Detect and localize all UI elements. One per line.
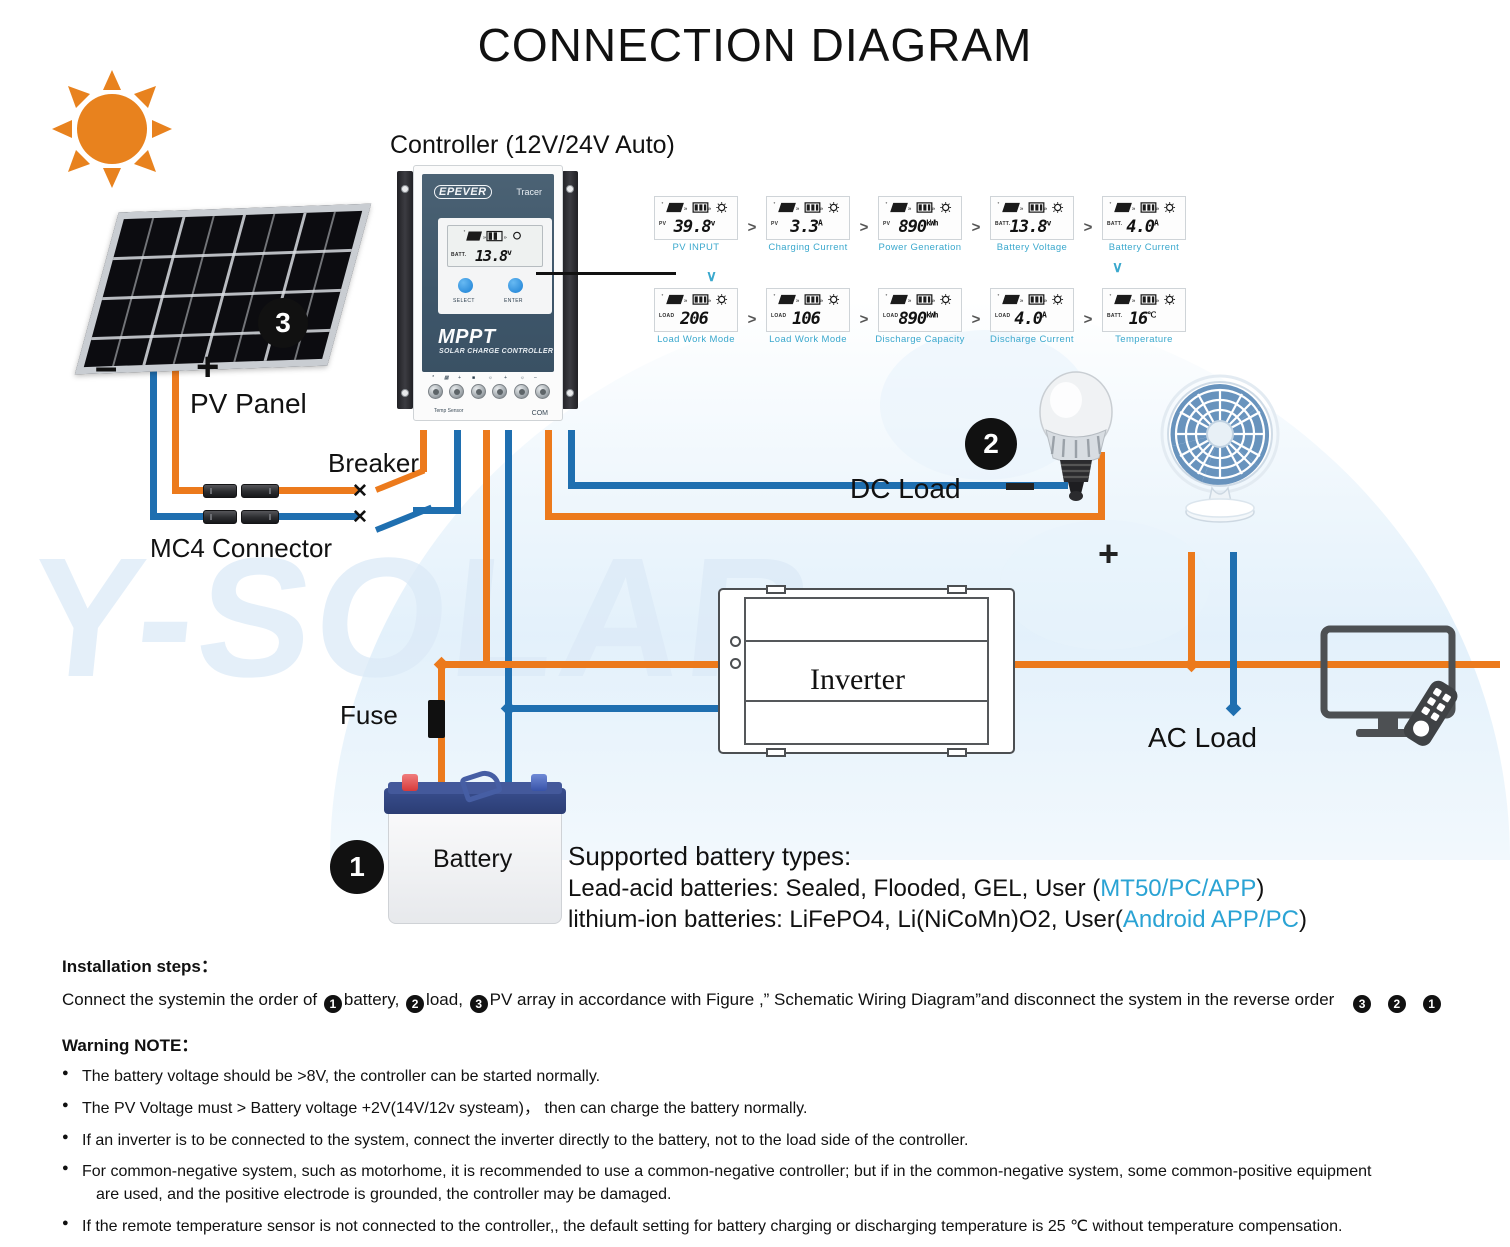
mc4-connector-label: MC4 Connector xyxy=(150,533,332,564)
terminal-pv-positive[interactable] xyxy=(471,384,486,399)
lcd-screen-cell: * » » LOAD106Load Work Mode xyxy=(762,288,854,350)
lcd-screen-cell: * » » PV890kWhPower Generation xyxy=(874,196,966,258)
wire-breaker-to-controller-negative xyxy=(454,430,461,513)
svg-text:»: » xyxy=(820,206,824,213)
mc4-connector-female-negative xyxy=(241,510,279,524)
warning-item-continuation: are used, and the positive electrode is … xyxy=(82,1184,1462,1207)
controller-lcd-screen: * » » BATT. 13.8v xyxy=(447,225,543,267)
lcd-flow-arrow: > xyxy=(742,219,762,236)
lcd-caption: Temperature xyxy=(1098,334,1190,345)
controller-lcd-value: 13.8v xyxy=(448,247,538,265)
enter-button-label: ENTER xyxy=(504,298,523,304)
svg-text:»: » xyxy=(708,298,712,305)
svg-text:»: » xyxy=(1020,298,1024,305)
lcd-caption: Charging Current xyxy=(762,242,854,253)
terminal-pv-negative[interactable] xyxy=(449,384,464,399)
svg-text:»: » xyxy=(1156,206,1160,213)
lcd-unit: kWh xyxy=(926,310,937,319)
wire-ac-load-negative-drop xyxy=(1230,552,1237,708)
lcd-number: 16 xyxy=(1129,309,1147,329)
controller-tech-label: MPPT xyxy=(438,326,496,349)
controller-terminal-row xyxy=(428,384,550,406)
lcd-screen: * » » BATT.16℃ xyxy=(1102,288,1186,332)
inline-badge-1: 1 xyxy=(324,995,342,1013)
wire-breaker-to-controller-positive xyxy=(420,430,427,472)
diagram-canvas: Y-SOLAR CONNECTION DIAGRAM xyxy=(0,0,1510,1235)
inverter-mount-tab-tl xyxy=(766,585,786,594)
battery-types-line2-text: lithium-ion batteries: LiFePO4, Li(NiCoM… xyxy=(568,906,1123,933)
tv-monitor-icon xyxy=(1320,625,1468,749)
svg-text:*: * xyxy=(886,293,888,298)
fuse-graphic xyxy=(428,700,445,738)
lcd-unit: A xyxy=(818,218,822,227)
battery-types-line1-accent: MT50/PC/APP xyxy=(1100,875,1256,902)
lcd-value: 13.8v xyxy=(991,217,1069,237)
svg-text:»: » xyxy=(1132,206,1136,213)
lcd-caption: Battery Current xyxy=(1098,242,1190,253)
inline-badge-2: 2 xyxy=(406,995,424,1013)
lcd-screen-cell: * » » BATT.16℃Temperature xyxy=(1098,288,1190,350)
junction-node-positive-left xyxy=(434,657,450,673)
warning-item-text: The PV Voltage must > Battery voltage +2… xyxy=(82,1100,807,1117)
svg-text:*: * xyxy=(1110,293,1112,298)
controller-lcd-number: 13.8 xyxy=(475,247,507,265)
pv-negative-label: – xyxy=(95,345,117,390)
lcd-screen-cell: * » » BATT.13.8vBattery Voltage xyxy=(986,196,1078,258)
installation-text-4: PV array in accordance with Figure ,” Sc… xyxy=(490,990,1335,1009)
mc4-connector-male-positive xyxy=(203,484,237,498)
battery-label: Battery xyxy=(433,845,512,874)
pv-panel-graphic xyxy=(75,204,371,375)
ac-load-label: AC Load xyxy=(1148,722,1257,754)
warning-item-text: For common-negative system, such as moto… xyxy=(82,1163,1371,1180)
sun-icon xyxy=(46,68,178,190)
wire-battery-positive-down xyxy=(483,430,490,665)
inverter-led-1 xyxy=(730,636,741,647)
light-bulb-icon xyxy=(1032,368,1120,503)
lcd-caption: PV INPUT xyxy=(650,242,742,253)
inverter-divider-top xyxy=(744,640,989,642)
breaker-open-mark-negative: ✕ xyxy=(352,506,368,529)
dc-load-label: DC Load xyxy=(850,473,961,505)
terminal-temp-sensor[interactable] xyxy=(428,384,443,399)
wire-breaker-join-negative xyxy=(413,507,461,514)
lcd-screen: * » » LOAD890kWh xyxy=(878,288,962,332)
lcd-number: 4.0 xyxy=(1126,217,1154,237)
inverter-divider-bottom xyxy=(744,700,989,702)
lcd-caption: Load Work Mode xyxy=(762,334,854,345)
wire-mc4-to-breaker-positive xyxy=(276,487,358,494)
dc-load-negative-symbol xyxy=(1006,483,1034,490)
reverse-order-badge-2: 2 xyxy=(1388,995,1406,1013)
lcd-flow-arrow: > xyxy=(966,219,986,236)
wire-dc-load-positive-down xyxy=(545,430,552,520)
controller-faceplate: EPEVER Tracer * » xyxy=(422,174,554,372)
warning-heading: Warning NOTE： xyxy=(62,1031,1462,1056)
lcd-screen: * » » BATT.13.8v xyxy=(990,196,1074,240)
com-port-label: COM xyxy=(532,410,548,417)
pv-cell-grid xyxy=(84,211,362,367)
battery-types-line-2: lithium-ion batteries: LiFePO4, Li(NiCoM… xyxy=(568,906,1307,934)
warning-item: If an inverter is to be connected to the… xyxy=(62,1130,1462,1153)
lcd-screen-cell: * » » LOAD206Load Work Mode xyxy=(650,288,742,350)
controller-body: EPEVER Tracer * » xyxy=(413,165,563,421)
epever-logo-text: EPEVER xyxy=(434,185,492,199)
lcd-unit: v xyxy=(1047,218,1051,227)
lcd-unit: v xyxy=(711,218,715,227)
warning-item-text: If an inverter is to be connected to the… xyxy=(82,1132,968,1149)
lcd-unit: kWh xyxy=(926,218,937,227)
svg-text:»: » xyxy=(504,235,507,241)
battery-types-line2-close: ) xyxy=(1299,906,1307,933)
installation-text-1: Connect the systemin the order of xyxy=(62,990,317,1009)
lcd-number: 890 xyxy=(898,217,926,237)
lcd-screen: * » » PV3.3A xyxy=(766,196,850,240)
breaker-label: Breaker xyxy=(328,448,419,479)
wire-battery-negative-bus xyxy=(505,705,730,712)
lcd-value: 4.0A xyxy=(991,309,1069,329)
lcd-value: 4.0A xyxy=(1103,217,1181,237)
battery-types-block: Supported battery types: Lead-acid batte… xyxy=(568,841,1307,934)
lcd-flow-arrow: > xyxy=(1078,219,1098,236)
lcd-flow-arrow: > xyxy=(966,311,986,328)
terminal-load-positive[interactable] xyxy=(535,384,550,399)
battery-types-line2-accent: Android APP/PC xyxy=(1123,906,1299,933)
charge-controller: EPEVER Tracer * » xyxy=(395,165,580,427)
warning-item: The battery voltage should be >8V, the c… xyxy=(62,1066,1462,1089)
lcd-screen: * » » PV39.8v xyxy=(654,196,738,240)
battery-types-line1-text: Lead-acid batteries: Sealed, Flooded, GE… xyxy=(568,875,1100,902)
temp-sensor-label: Temp Sensor xyxy=(434,408,463,414)
battery-types-line1-close: ) xyxy=(1256,875,1264,902)
lcd-row-top: * » » PV39.8vPV INPUT> * » » PV3.3ACharg… xyxy=(650,196,1210,258)
junction-node-negative-ac xyxy=(1226,701,1242,717)
lcd-value: 890kWh xyxy=(879,309,957,329)
lcd-screen-cell: * » » PV3.3ACharging Current xyxy=(762,196,854,258)
wire-dc-load-negative-run xyxy=(568,482,1068,489)
inverter-led-2 xyxy=(730,658,741,669)
installation-text-3: load, xyxy=(426,990,463,1009)
lcd-screen: * » » PV890kWh xyxy=(878,196,962,240)
svg-text:*: * xyxy=(464,229,466,234)
svg-text:»: » xyxy=(820,298,824,305)
battery-types-line-1: Lead-acid batteries: Sealed, Flooded, GE… xyxy=(568,875,1307,903)
controller-mount-rail-left xyxy=(397,171,413,409)
watermark: Y-SOLAR xyxy=(20,520,824,716)
lcd-screen: * » » LOAD206 xyxy=(654,288,738,332)
lcd-number: 4.0 xyxy=(1014,309,1042,329)
lcd-flow-down-arrow-right: ∨ xyxy=(1112,258,1123,276)
controller-lcd-bezel: * » » BATT. 13.8v xyxy=(438,218,552,314)
lcd-unit: A xyxy=(1042,310,1046,319)
select-button[interactable] xyxy=(458,278,473,293)
lcd-flow-arrow: > xyxy=(854,311,874,328)
lcd-caption: Discharge Capacity xyxy=(874,334,966,345)
svg-text:*: * xyxy=(998,293,1000,298)
svg-text:»: » xyxy=(908,298,912,305)
installation-heading: Installation steps： xyxy=(62,952,1462,977)
lcd-value: 3.3A xyxy=(767,217,845,237)
wire-pv-negative-horizontal xyxy=(150,513,210,520)
fuse-label: Fuse xyxy=(340,700,398,731)
svg-text:»: » xyxy=(796,206,800,213)
lcd-caption: Discharge Current xyxy=(986,334,1078,345)
step-badge-3: 3 xyxy=(258,298,308,348)
svg-text:*: * xyxy=(774,201,776,206)
lcd-caption: Battery Voltage xyxy=(986,242,1078,253)
lcd-caption: Power Generation xyxy=(874,242,966,253)
dc-load-positive-symbol: + xyxy=(1098,533,1119,575)
controller-model-label: Tracer xyxy=(516,187,542,197)
electric-fan-icon xyxy=(1148,372,1298,537)
controller-terminal-icons: *▦+ ■☼+ ☼– xyxy=(430,375,548,383)
lcd-value: 16℃ xyxy=(1103,309,1181,329)
wire-dc-load-negative-down xyxy=(568,430,575,488)
wire-battery-negative-down xyxy=(505,430,512,805)
inverter-mount-tab-bl xyxy=(766,748,786,757)
svg-text:»: » xyxy=(1044,298,1048,305)
svg-text:»: » xyxy=(708,206,712,213)
select-button-label: SELECT xyxy=(453,298,475,304)
svg-text:»: » xyxy=(1020,206,1024,213)
warning-item-text: If the remote temperature sensor is not … xyxy=(82,1218,1342,1235)
svg-text:»: » xyxy=(1132,298,1136,305)
step-badge-1: 1 xyxy=(330,840,384,894)
lcd-flow-arrow: > xyxy=(854,219,874,236)
svg-text:*: * xyxy=(998,201,1000,206)
svg-text:*: * xyxy=(1110,201,1112,206)
inverter-mount-tab-tr xyxy=(947,585,967,594)
svg-text:»: » xyxy=(684,298,688,305)
svg-text:»: » xyxy=(796,298,800,305)
svg-text:»: » xyxy=(932,206,936,213)
lcd-unit: A xyxy=(1154,218,1158,227)
terminal-battery-positive[interactable] xyxy=(492,384,507,399)
lcd-screen-cell: * » » BATT.4.0ABattery Current xyxy=(1098,196,1190,258)
svg-text:*: * xyxy=(662,293,664,298)
lcd-flow-down-arrow-left: ∨ xyxy=(706,267,717,285)
lcd-number: 206 xyxy=(680,309,708,329)
svg-text:»: » xyxy=(684,206,688,213)
lcd-screen: * » » BATT.4.0A xyxy=(1102,196,1186,240)
svg-text:»: » xyxy=(908,206,912,213)
warning-item-text: The battery voltage should be >8V, the c… xyxy=(82,1068,600,1085)
svg-text:»: » xyxy=(1156,298,1160,305)
lcd-value: 206 xyxy=(655,309,733,329)
lcd-value: 106 xyxy=(767,309,845,329)
controller-lcd-unit: v xyxy=(507,248,511,257)
pv-positive-label: + xyxy=(196,345,219,390)
terminal-battery-negative[interactable] xyxy=(514,384,529,399)
lcd-number: 106 xyxy=(792,309,820,329)
wire-dc-load-positive-run xyxy=(545,513,1105,520)
controller-subtitle: SOLAR CHARGE CONTROLLER xyxy=(439,348,553,355)
lcd-value: 39.8v xyxy=(655,217,733,237)
svg-text:*: * xyxy=(886,201,888,206)
controller-mount-rail-right xyxy=(562,171,578,409)
lcd-number: 3.3 xyxy=(790,217,818,237)
inverter-mount-tab-br xyxy=(947,748,967,757)
enter-button[interactable] xyxy=(508,278,523,293)
battery-types-heading: Supported battery types: xyxy=(568,841,1307,872)
lcd-screen-cell: * » » LOAD4.0ADischarge Current xyxy=(986,288,1078,350)
svg-text:»: » xyxy=(1044,206,1048,213)
wire-pv-negative-vertical xyxy=(150,358,157,516)
lcd-screen-cell: * » » LOAD890kWhDischarge Capacity xyxy=(874,288,966,350)
battery-negative-terminal xyxy=(531,774,547,791)
wire-mc4-to-breaker-negative xyxy=(276,513,358,520)
lcd-number: 13.8 xyxy=(1010,217,1047,237)
battery-positive-terminal xyxy=(402,774,418,791)
lcd-screen-cell: * » » PV39.8vPV INPUT xyxy=(650,196,742,258)
lcd-screen: * » » LOAD4.0A xyxy=(990,288,1074,332)
installation-sentence: Connect the systemin the order of 1batte… xyxy=(62,989,1462,1013)
lcd-value: 890kWh xyxy=(879,217,957,237)
reverse-order-badge-1: 1 xyxy=(1423,995,1441,1013)
lcd-screen: * » » LOAD106 xyxy=(766,288,850,332)
inverter-label: Inverter xyxy=(810,663,905,697)
junction-node-negative-left xyxy=(501,701,517,717)
lcd-number: 890 xyxy=(898,309,926,329)
lcd-number: 39.8 xyxy=(674,217,711,237)
lcd-unit: ℃ xyxy=(1147,310,1155,319)
mc4-connector-female-positive xyxy=(241,484,279,498)
reverse-order-badge-3: 3 xyxy=(1353,995,1371,1013)
warning-list: The battery voltage should be >8V, the c… xyxy=(62,1066,1462,1238)
inline-badge-3: 3 xyxy=(470,995,488,1013)
pv-panel-label: PV Panel xyxy=(190,388,307,420)
epever-logo: EPEVER xyxy=(434,186,492,198)
warning-item: For common-negative system, such as moto… xyxy=(62,1161,1462,1206)
mc4-connector-male-negative xyxy=(203,510,237,524)
installation-text-2: battery, xyxy=(344,990,399,1009)
wire-ac-load-positive-drop xyxy=(1188,552,1195,664)
svg-text:*: * xyxy=(774,293,776,298)
svg-text:»: » xyxy=(932,298,936,305)
bottom-text-block: Installation steps： Connect the systemin… xyxy=(62,952,1462,1247)
lcd-row-bottom: * » » LOAD206Load Work Mode> * » » LOAD1… xyxy=(650,288,1210,350)
breaker-open-mark-positive: ✕ xyxy=(352,480,368,503)
junction-node-positive-ac xyxy=(1184,657,1200,673)
lcd-caption: Load Work Mode xyxy=(650,334,742,345)
warning-item: The PV Voltage must > Battery voltage +2… xyxy=(62,1098,1462,1121)
lcd-flow-arrow: > xyxy=(1078,311,1098,328)
wire-pv-positive-vertical xyxy=(172,358,179,490)
svg-text:»: » xyxy=(483,235,486,241)
svg-text:*: * xyxy=(662,201,664,206)
lcd-screen-sequence: * » » PV39.8vPV INPUT> * » » PV3.3ACharg… xyxy=(650,196,1210,356)
step-badge-2: 2 xyxy=(965,418,1017,470)
page-title: CONNECTION DIAGRAM xyxy=(0,18,1510,72)
controller-heading: Controller (12V/24V Auto) xyxy=(390,131,675,160)
lcd-flow-arrow: > xyxy=(742,311,762,328)
